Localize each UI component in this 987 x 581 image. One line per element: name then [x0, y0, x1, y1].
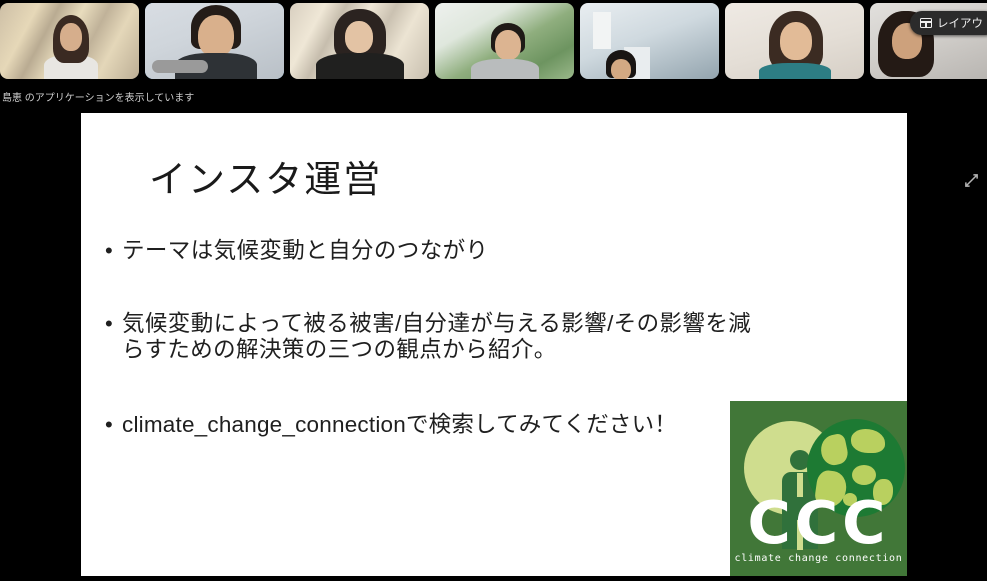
participant-tile[interactable]	[290, 3, 429, 79]
share-status-text: 島恵 のアプリケーションを表示しています	[2, 89, 194, 104]
slide-bullet-item: • テーマは気候変動と自分のつながり	[105, 238, 895, 265]
participant-face	[780, 22, 812, 60]
participant-tile[interactable]	[0, 3, 139, 79]
participant-face	[611, 59, 631, 79]
bullet-marker: •	[105, 412, 122, 438]
logo-continent	[818, 433, 850, 468]
bullet-text: 気候変動によって被る被害/自分達が与える影響/その影響を減 らすための解決策の三…	[122, 311, 751, 364]
layout-button-label: レイアウ	[937, 15, 983, 31]
participant-filmstrip: レイアウ	[0, 0, 987, 82]
participant-face	[495, 30, 521, 60]
layout-icon	[920, 18, 932, 28]
bullet-text: テーマは気候変動と自分のつながり	[122, 238, 488, 265]
ccc-logo: CCC climate change connection	[730, 401, 907, 576]
bullet-marker: •	[105, 311, 122, 337]
logo-continent	[851, 429, 885, 453]
participant-face	[345, 21, 373, 53]
participant-face	[198, 15, 234, 57]
logo-acronym: CCC	[730, 493, 907, 552]
bullet-text: climate_change_connectionで検索してみてください！	[122, 412, 677, 439]
logo-continent	[852, 465, 876, 485]
bullet-marker: •	[105, 238, 122, 264]
logo-tagline: climate change connection	[730, 553, 907, 564]
layout-button[interactable]: レイアウ	[910, 11, 987, 35]
participant-face	[60, 23, 82, 51]
participant-tile[interactable]	[580, 3, 719, 79]
participant-torso	[316, 53, 404, 79]
participant-torso	[471, 59, 539, 79]
shared-slide: インスタ運営 • テーマは気候変動と自分のつながり • 気候変動によって被る被害…	[81, 113, 907, 576]
participant-name-badge-blurred	[152, 60, 208, 73]
participant-torso	[759, 63, 831, 79]
participant-tile-active-speaker[interactable]	[145, 3, 284, 79]
screen-share-toolbar: 島恵 のアプリケーションを表示しています − 93% +	[0, 82, 987, 113]
participant-tile[interactable]	[435, 3, 574, 79]
wall-poster	[593, 12, 611, 49]
slide-bullet-item: • 気候変動によって被る被害/自分達が与える影響/その影響を減 らすための解決策…	[105, 311, 895, 364]
expand-arrow-icon[interactable]	[964, 173, 979, 188]
participant-tile[interactable]	[725, 3, 864, 79]
slide-title: インスタ運営	[149, 149, 382, 203]
screen-share-window: レイアウ 島恵 のアプリケーションを表示しています − 93% + インスタ運営…	[0, 0, 987, 581]
